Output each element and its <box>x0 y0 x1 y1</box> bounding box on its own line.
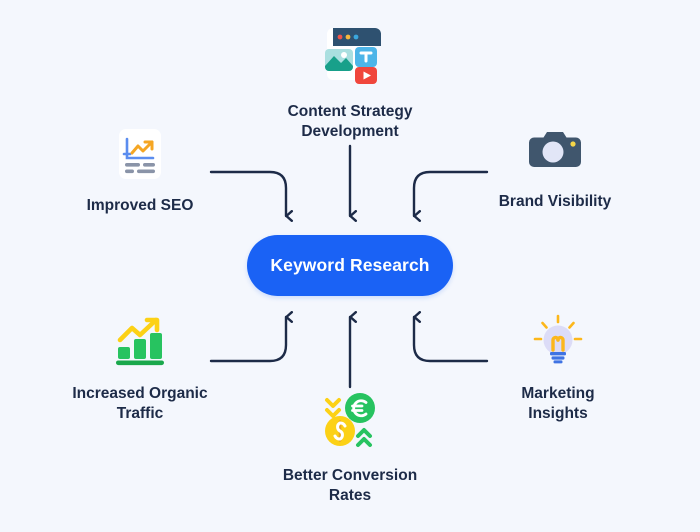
node-marketing-insights[interactable]: Marketing Insights <box>478 312 638 425</box>
connector-brand-to-center <box>414 172 487 216</box>
node-label-improved-seo: Improved SEO <box>87 196 194 216</box>
currency-coins-exchange-icon <box>319 390 381 457</box>
node-label-better-conversion-rates: Better Conversion Rates <box>283 466 417 507</box>
node-label-brand-visibility: Brand Visibility <box>499 192 612 212</box>
center-node-label: Keyword Research <box>270 255 429 276</box>
connector-insights-to-center <box>414 317 487 361</box>
connector-seo-to-center <box>211 172 286 216</box>
content-browser-media-icon <box>317 22 383 93</box>
node-label-content-strategy-development: Content Strategy Development <box>288 102 413 143</box>
node-improved-seo[interactable]: Improved SEO <box>60 126 220 216</box>
node-label-increased-organic-traffic: Increased Organic Traffic <box>72 384 207 425</box>
keyword-research-diagram: Keyword Research Improved SEO <box>0 0 700 532</box>
center-node-keyword-research[interactable]: Keyword Research <box>247 235 453 296</box>
node-brand-visibility[interactable]: Brand Visibility <box>480 122 630 212</box>
camera-icon <box>527 122 583 183</box>
seo-document-chart-icon <box>112 126 168 187</box>
growth-bar-chart-icon <box>111 312 169 375</box>
node-increased-organic-traffic[interactable]: Increased Organic Traffic <box>50 312 230 425</box>
node-better-conversion-rates[interactable]: Better Conversion Rates <box>250 390 450 507</box>
node-label-marketing-insights: Marketing Insights <box>521 384 594 425</box>
node-content-strategy-development[interactable]: Content Strategy Development <box>250 22 450 143</box>
lightbulb-idea-icon <box>529 312 587 375</box>
